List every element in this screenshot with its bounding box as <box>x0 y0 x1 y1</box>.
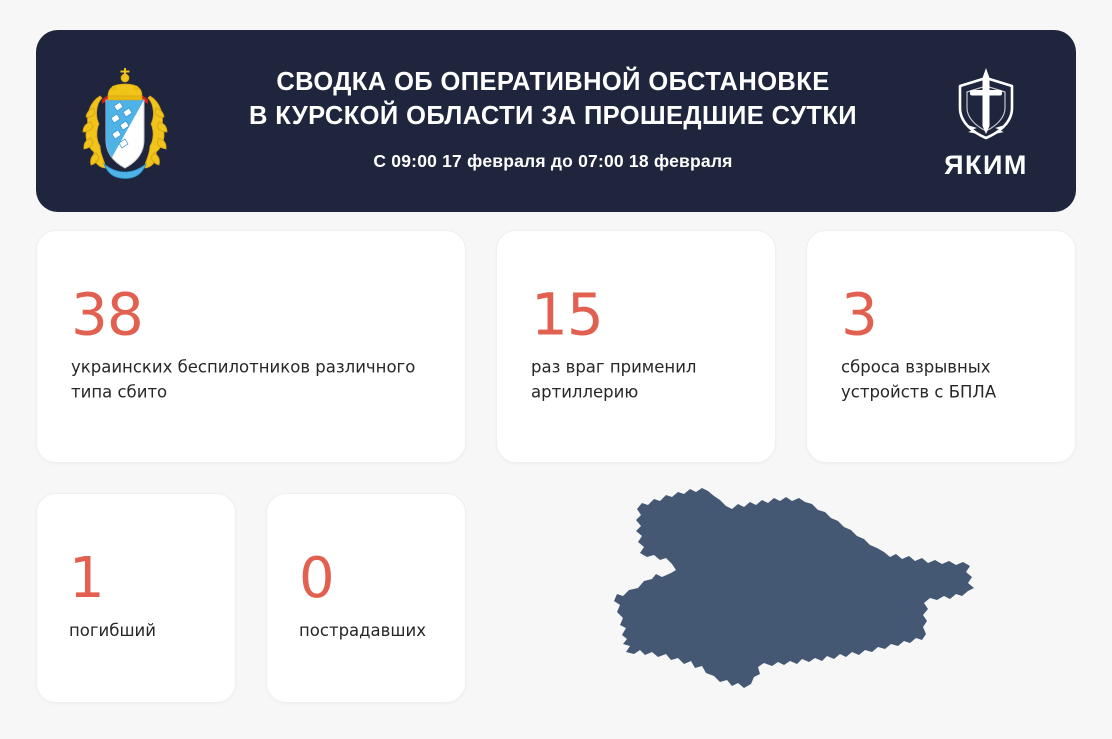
infographic-page: СВОДКА ОБ ОПЕРАТИВНОЙ ОБСТАНОВКЕ В КУРСК… <box>0 0 1112 739</box>
stat-card-artillery: 15 раз враг применил артиллерию <box>496 230 776 463</box>
stat-value: 0 <box>299 553 451 605</box>
stat-card-drones: 38 украинских беспилотников различного т… <box>36 230 466 463</box>
stat-value: 1 <box>69 553 221 605</box>
stat-label: сброса взрывных устройств с БПЛА <box>841 354 1057 405</box>
stat-label: украинских беспилотников различного типа… <box>71 354 447 405</box>
brand-name: ЯКИМ <box>944 152 1028 179</box>
stat-label: раз враг применил артиллерию <box>531 354 757 405</box>
stat-card-explosive-drops: 3 сброса взрывных устройств с БПЛА <box>806 230 1076 463</box>
stat-label: пострадавших <box>299 617 451 643</box>
kursk-oblast-map-shape <box>614 488 974 688</box>
page-title-line-1: СВОДКА ОБ ОПЕРАТИВНОЙ ОБСТАНОВКЕ <box>249 66 857 100</box>
stat-label: погибший <box>69 617 221 643</box>
brand-block: ЯКИМ <box>926 64 1046 179</box>
page-title: СВОДКА ОБ ОПЕРАТИВНОЙ ОБСТАНОВКЕ В КУРСК… <box>249 66 857 133</box>
stat-value: 3 <box>841 288 1057 341</box>
page-title-line-2: В КУРСКОЙ ОБЛАСТИ ЗА ПРОШЕДШИЕ СУТКИ <box>249 100 857 134</box>
kursk-oblast-map <box>596 478 986 706</box>
stat-value: 15 <box>531 288 757 341</box>
header-banner: СВОДКА ОБ ОПЕРАТИВНОЙ ОБСТАНОВКЕ В КУРСК… <box>36 30 1076 212</box>
stat-card-killed: 1 погибший <box>36 493 236 703</box>
report-period: С 09:00 17 февраля до 07:00 18 февраля <box>373 151 732 172</box>
kursk-oblast-coat-of-arms-icon <box>70 56 180 186</box>
shield-sword-logo-icon <box>944 64 1028 148</box>
crown-icon <box>108 68 142 100</box>
stat-value: 38 <box>71 288 447 341</box>
header-text-block: СВОДКА ОБ ОПЕРАТИВНОЙ ОБСТАНОВКЕ В КУРСК… <box>180 66 926 176</box>
stat-card-injured: 0 пострадавших <box>266 493 466 703</box>
